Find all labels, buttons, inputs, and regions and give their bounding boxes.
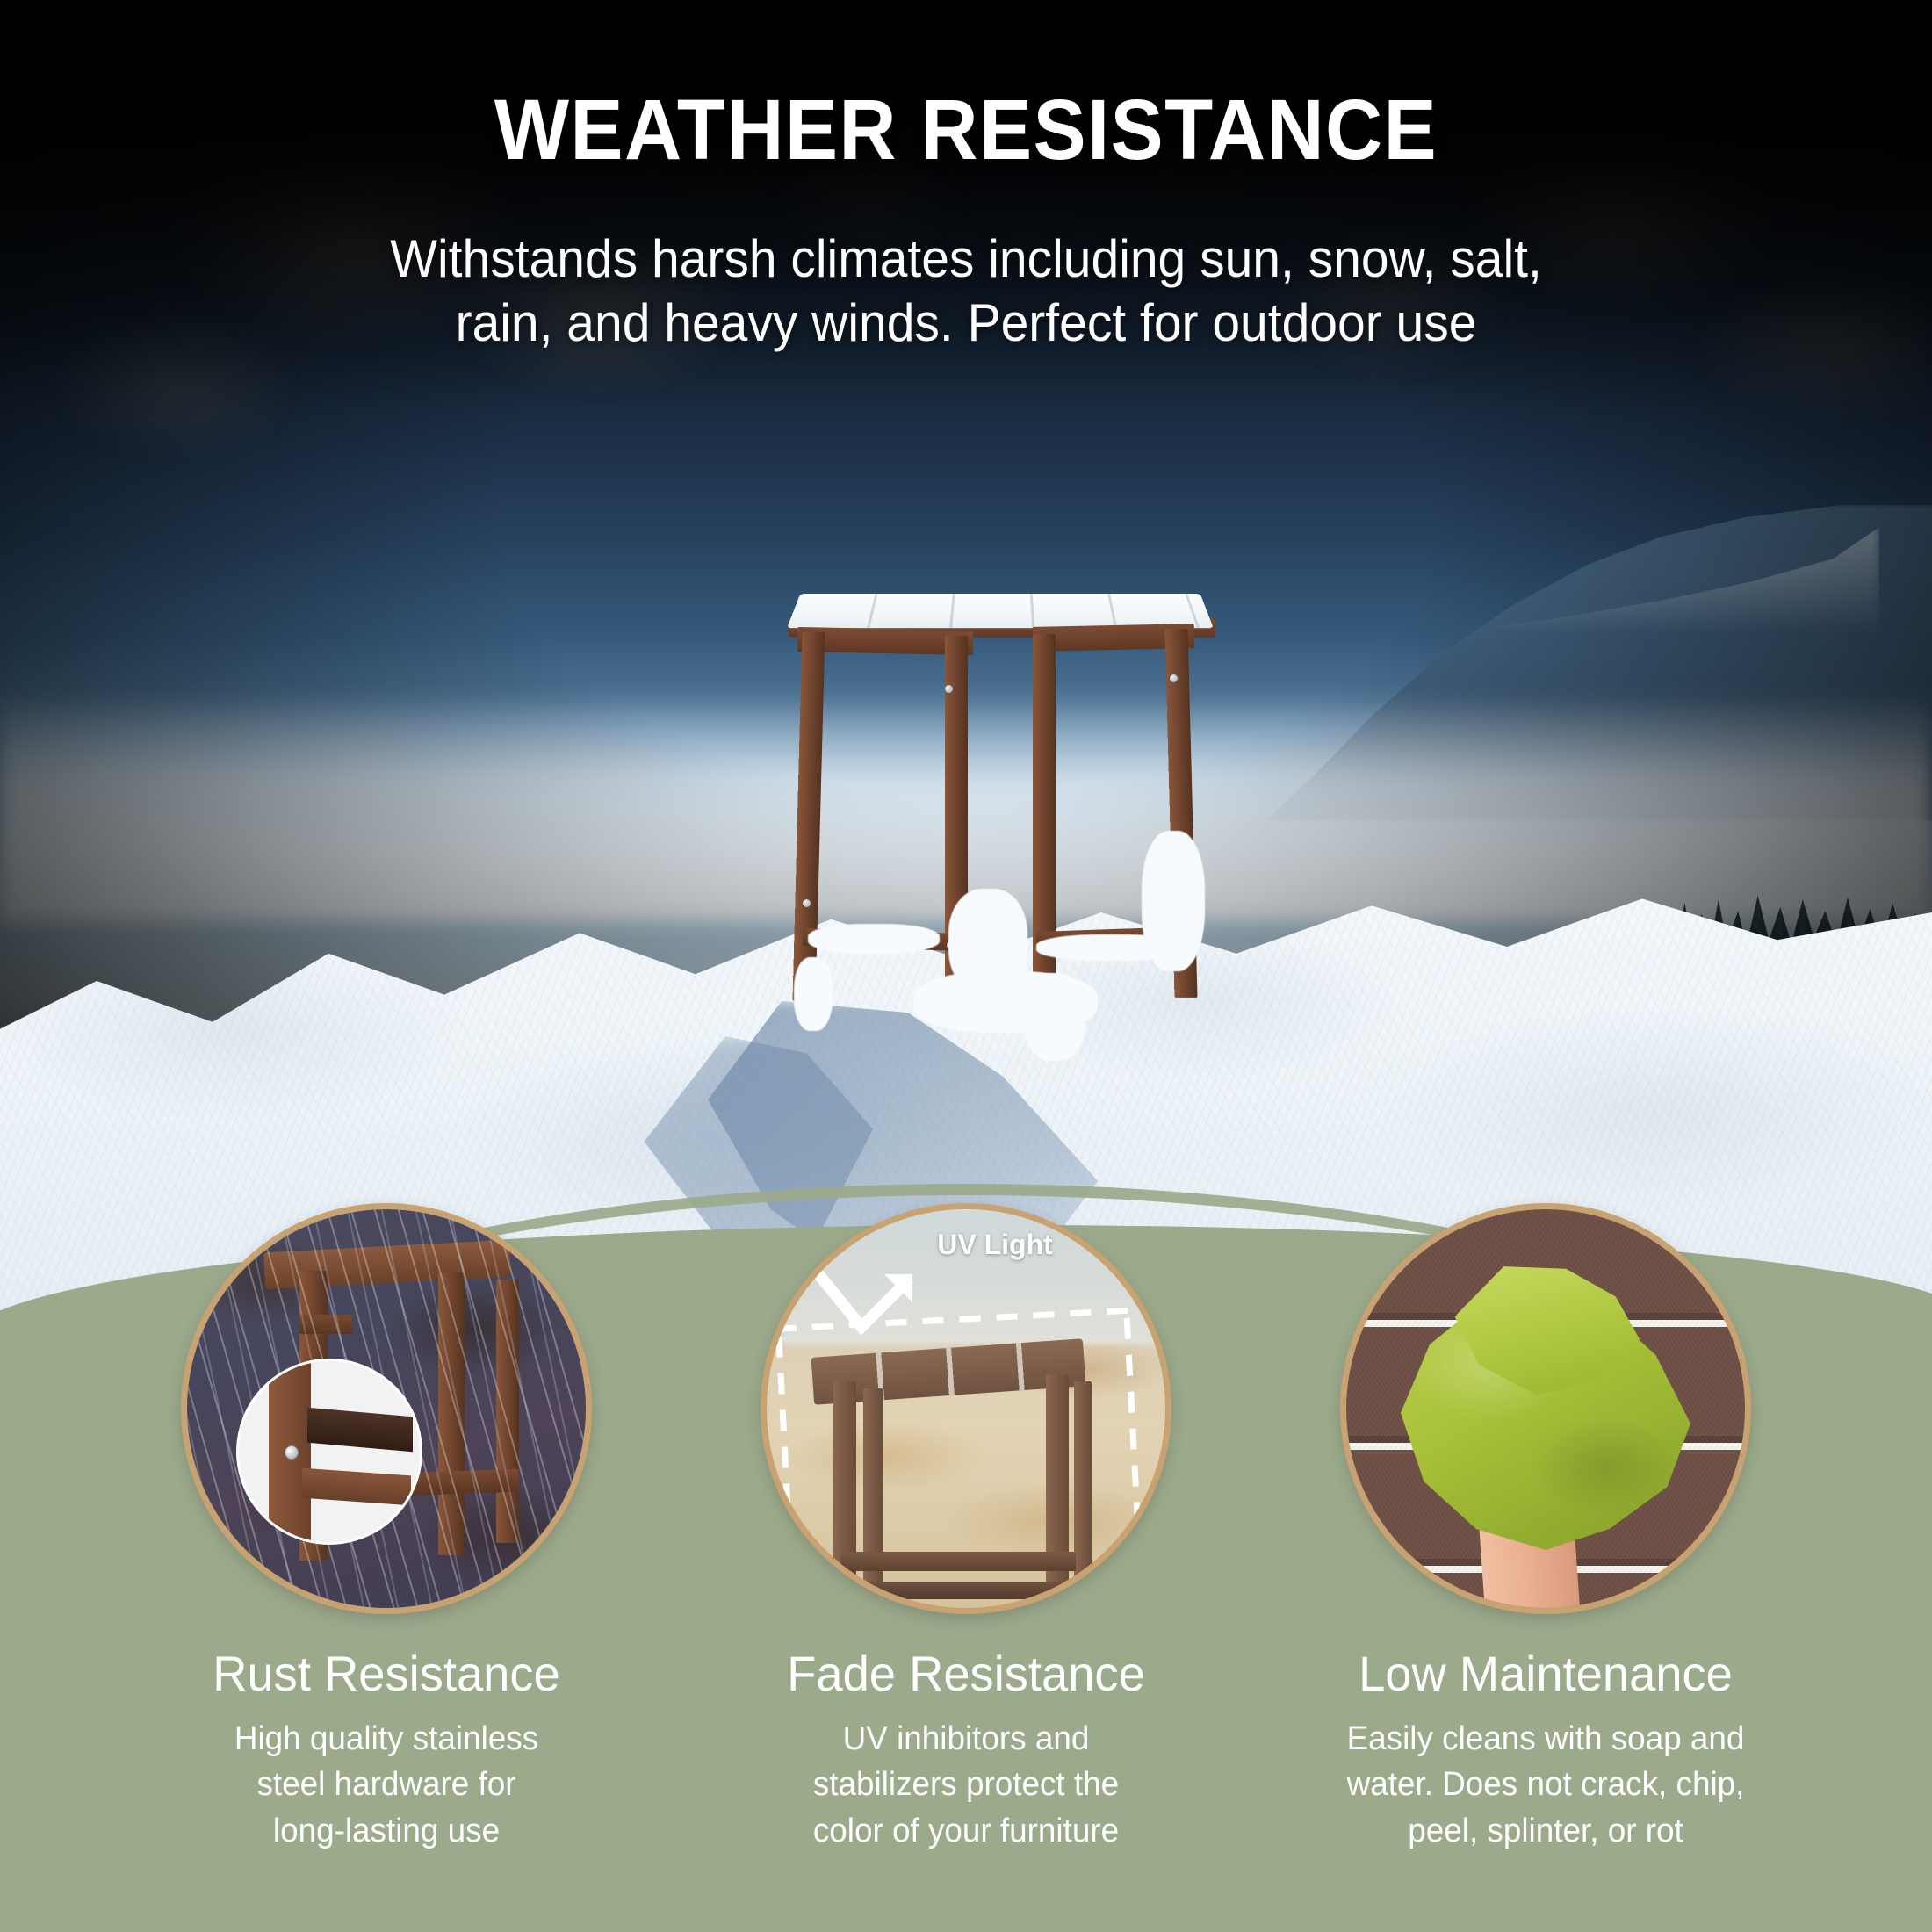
subtitle-line-1: Withstands harsh climates including sun,… bbox=[48, 227, 1884, 291]
desc-line-3: peel, splinter, or rot bbox=[1273, 1808, 1819, 1854]
table-leg-3 bbox=[1033, 634, 1056, 1019]
table-top-slat-lines bbox=[787, 594, 1214, 628]
feature-desc-fade-resistance: UV inhibitors and stabilizers protect th… bbox=[694, 1716, 1239, 1854]
feature-image-low-maintenance bbox=[1340, 1203, 1751, 1614]
table-screw-1 bbox=[945, 685, 953, 693]
desc-line-2: water. Does not crack, chip, bbox=[1273, 1762, 1819, 1807]
feature-title-fade-resistance: Fade Resistance bbox=[694, 1649, 1239, 1698]
uv-light-label: UV Light bbox=[863, 1229, 1127, 1261]
sand-table-rail-2 bbox=[840, 1582, 1076, 1599]
callout-dark-bar bbox=[307, 1408, 413, 1452]
feature-desc-low-maintenance: Easily cleans with soap and water. Does … bbox=[1273, 1716, 1819, 1854]
snow-patch-4 bbox=[1142, 831, 1205, 971]
feature-caption-low-maintenance: Low Maintenance Easily cleans with soap … bbox=[1265, 1649, 1827, 1854]
desc-line-2: stabilizers protect the bbox=[694, 1762, 1239, 1807]
feature-image-fade-resistance: UV Light bbox=[761, 1203, 1171, 1614]
sand-table-leg-4 bbox=[1074, 1381, 1092, 1601]
marketing-infographic: WEATHER RESISTANCE Withstands harsh clim… bbox=[0, 0, 1932, 1932]
hero-product-table bbox=[773, 580, 1229, 1071]
stainless-screw-callout bbox=[236, 1359, 422, 1545]
feature-title-low-maintenance: Low Maintenance bbox=[1273, 1649, 1819, 1698]
desc-line-1: High quality stainless bbox=[114, 1716, 660, 1762]
subtitle-line-2: rain, and heavy winds. Perfect for outdo… bbox=[48, 291, 1884, 355]
desc-line-3: color of your furniture bbox=[694, 1808, 1239, 1854]
stainless-screw-icon bbox=[285, 1445, 299, 1460]
feature-caption-rust-resistance: Rust Resistance High quality stainless s… bbox=[105, 1649, 667, 1854]
snow-patch-2 bbox=[808, 924, 940, 954]
desc-line-2: steel hardware for bbox=[114, 1762, 660, 1807]
feature-image-rust-resistance bbox=[181, 1203, 592, 1614]
page-subtitle: Withstands harsh climates including sun,… bbox=[48, 227, 1884, 355]
feature-title-rust-resistance: Rust Resistance bbox=[114, 1649, 660, 1698]
snow-patch-5 bbox=[794, 957, 833, 1031]
feature-desc-rust-resistance: High quality stainless steel hardware fo… bbox=[114, 1716, 660, 1854]
desc-line-1: UV inhibitors and bbox=[694, 1716, 1239, 1762]
page-title: WEATHER RESISTANCE bbox=[68, 81, 1864, 179]
desc-line-1: Easily cleans with soap and bbox=[1273, 1716, 1819, 1762]
sand-table-rail-1 bbox=[840, 1552, 1076, 1571]
table-screw-2 bbox=[1170, 674, 1178, 682]
table-screw-3 bbox=[803, 899, 811, 907]
feature-caption-fade-resistance: Fade Resistance UV inhibitors and stabil… bbox=[685, 1649, 1247, 1854]
snow-patch-7 bbox=[1024, 973, 1085, 1061]
desc-line-3: long-lasting use bbox=[114, 1808, 660, 1854]
callout-brown-bar bbox=[302, 1468, 411, 1506]
